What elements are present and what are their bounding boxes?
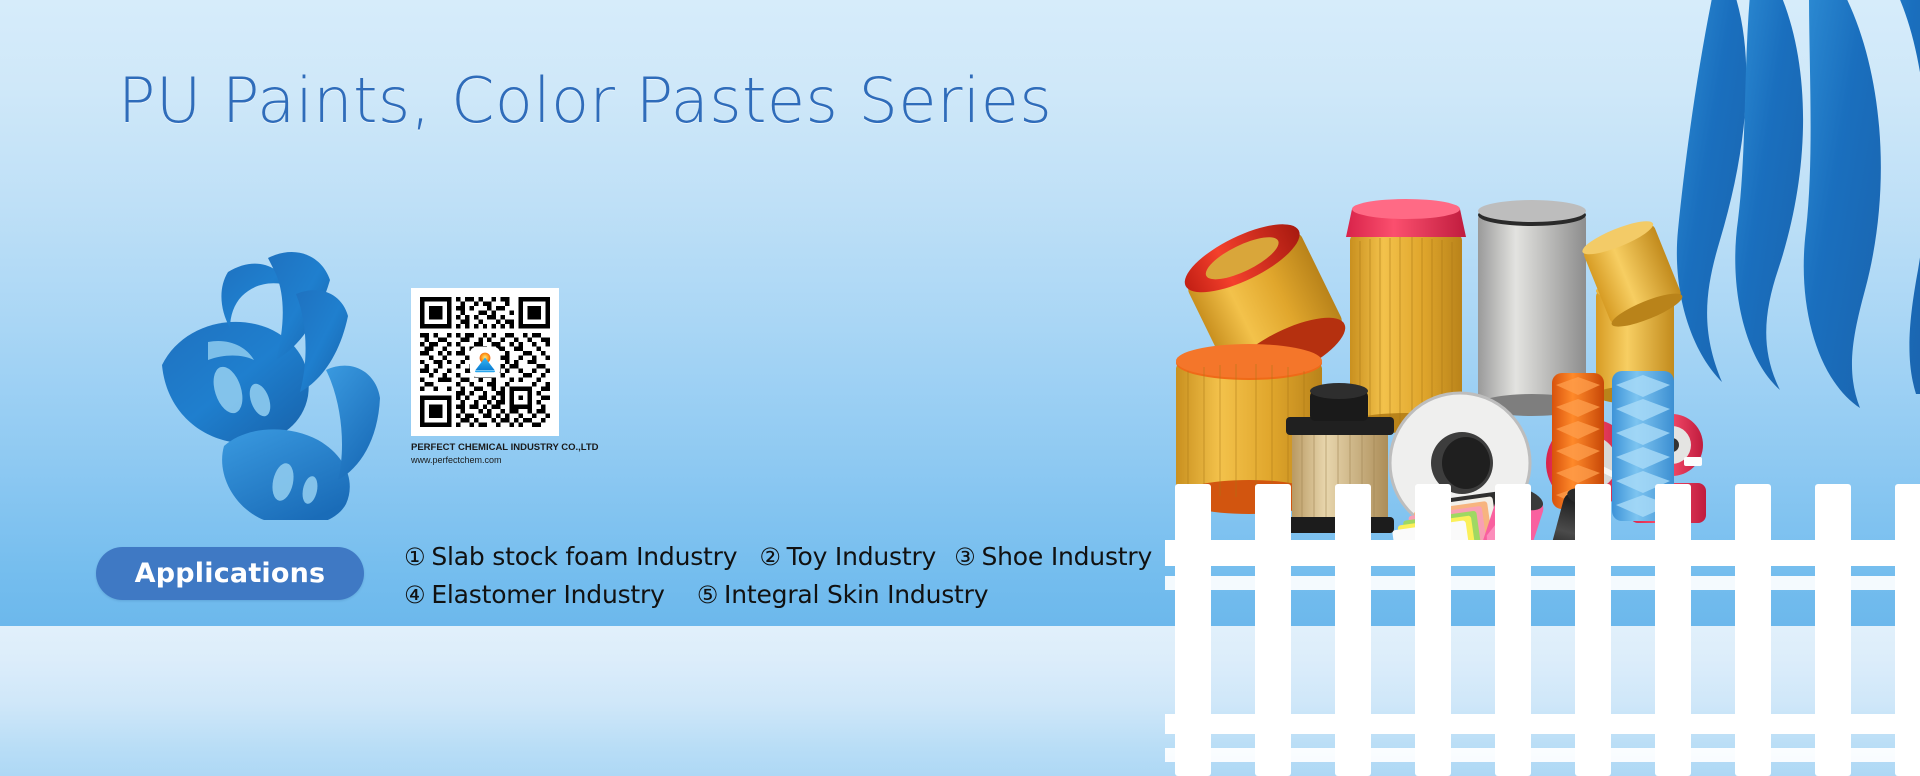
application-item: ④ Elastomer Industry [404, 576, 665, 614]
qr-caption: PERFECT CHEMICAL INDUSTRY CO.,LTD www.pe… [411, 442, 559, 466]
blue-monstera-leaf-icon [150, 250, 390, 520]
applications-pill-text: Applications [135, 558, 326, 589]
company-website: www.perfectchem.com [411, 454, 559, 466]
banner-title: PU Paints, Color Pastes Series [118, 64, 1052, 137]
white-picket-fence-icon [1165, 448, 1920, 776]
application-item: ③ Shoe Industry [954, 538, 1152, 576]
product-banner: PU Paints, Color Pastes Series [0, 0, 1920, 776]
applications-row-2: ④ Elastomer Industry ⑤ Integral Skin Ind… [404, 576, 1164, 614]
application-label: Slab stock foam Industry [431, 538, 737, 576]
application-item: ① Slab stock foam Industry [404, 538, 737, 576]
applications-label-pill: Applications [96, 547, 364, 600]
application-number: ① [404, 538, 425, 576]
application-label: Elastomer Industry [431, 576, 664, 614]
application-label: Integral Skin Industry [724, 576, 988, 614]
application-number: ② [759, 538, 780, 576]
applications-list: ① Slab stock foam Industry ② Toy Industr… [404, 538, 1164, 614]
qr-code-card[interactable] [411, 288, 559, 436]
application-number: ③ [954, 538, 975, 576]
company-name: PERFECT CHEMICAL INDUSTRY CO.,LTD [411, 442, 559, 454]
application-label: Toy Industry [787, 538, 937, 576]
application-number: ⑤ [697, 576, 718, 614]
applications-row-1: ① Slab stock foam Industry ② Toy Industr… [404, 538, 1164, 576]
application-item: ② Toy Industry [759, 538, 936, 576]
qr-code-block: PERFECT CHEMICAL INDUSTRY CO.,LTD www.pe… [411, 288, 559, 466]
application-number: ④ [404, 576, 425, 614]
sun-over-mountain-logo-icon [470, 347, 500, 377]
application-label: Shoe Industry [981, 538, 1152, 576]
application-item: ⑤ Integral Skin Industry [697, 576, 989, 614]
